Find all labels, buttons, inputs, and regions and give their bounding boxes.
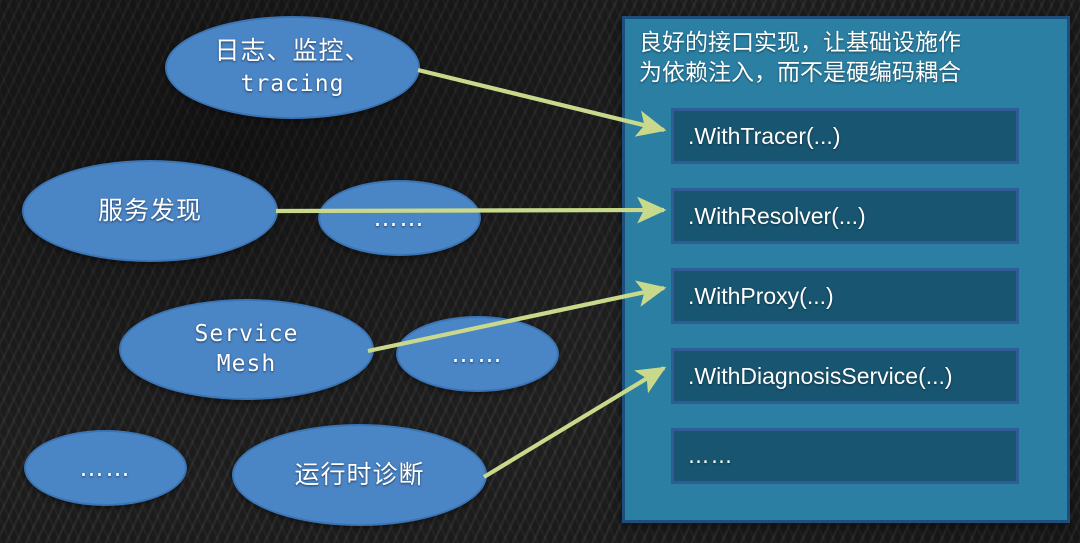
method-with-tracer[interactable]: .WithTracer(...) — [671, 108, 1019, 164]
node-ellipsis-3-label: …… — [80, 453, 132, 484]
node-service-mesh[interactable]: Service Mesh — [119, 299, 374, 400]
node-runtime-diagnostics[interactable]: 运行时诊断 — [232, 424, 487, 526]
method-list: .WithTracer(...) .WithResolver(...) .Wit… — [671, 108, 1019, 508]
node-service-mesh-label: Service Mesh — [195, 320, 299, 379]
node-ellipsis-1-label: …… — [374, 203, 426, 234]
method-with-tracer-label: .WithTracer(...) — [688, 123, 840, 150]
method-with-resolver-label: .WithResolver(...) — [688, 203, 866, 230]
method-more[interactable]: …… — [671, 428, 1019, 484]
method-more-label: …… — [688, 444, 734, 468]
method-with-diagnosis-service-label: .WithDiagnosisService(...) — [688, 363, 953, 390]
node-logging-monitoring-tracing[interactable]: 日志、监控、tracing — [165, 16, 420, 119]
method-with-resolver[interactable]: .WithResolver(...) — [671, 188, 1019, 244]
method-with-proxy[interactable]: .WithProxy(...) — [671, 268, 1019, 324]
node-ellipsis-3[interactable]: …… — [24, 430, 187, 506]
node-ellipsis-2[interactable]: …… — [396, 316, 559, 392]
node-runtime-diagnostics-label: 运行时诊断 — [294, 459, 424, 491]
slide-canvas: 日志、监控、tracing 服务发现 …… Service Mesh …… ……… — [0, 0, 1080, 543]
infrastructure-panel: 良好的接口实现，让基础设施作 为依赖注入，而不是硬编码耦合 .WithTrace… — [622, 16, 1070, 523]
node-service-discovery-label: 服务发现 — [98, 195, 202, 227]
method-with-proxy-label: .WithProxy(...) — [688, 283, 834, 310]
node-service-discovery[interactable]: 服务发现 — [22, 160, 278, 262]
panel-title: 良好的接口实现，让基础设施作 为依赖注入，而不是硬编码耦合 — [625, 19, 1067, 91]
node-logging-label: 日志、监控、tracing — [214, 35, 370, 99]
node-ellipsis-2-label: …… — [452, 339, 504, 370]
method-with-diagnosis-service[interactable]: .WithDiagnosisService(...) — [671, 348, 1019, 404]
node-ellipsis-1[interactable]: …… — [318, 180, 481, 256]
